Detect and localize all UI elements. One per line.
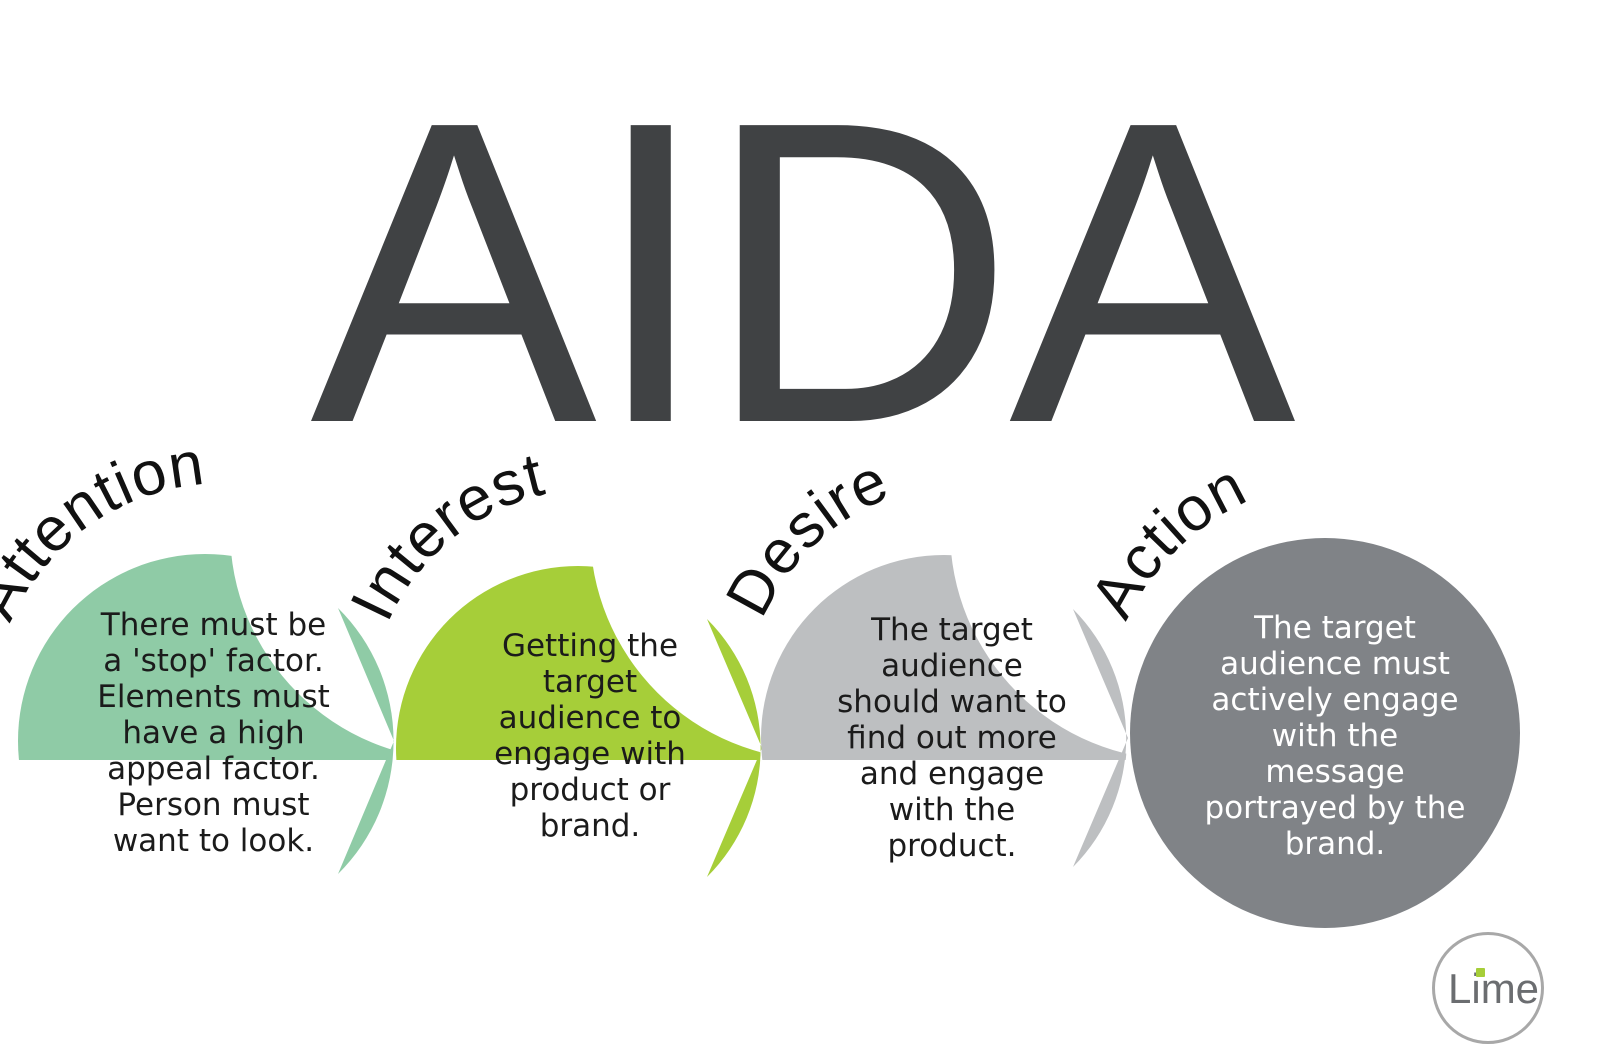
step-label-desire: Desire xyxy=(713,446,898,627)
infographic-canvas: AIDA xyxy=(0,0,1600,1053)
logo-accent-dot-icon xyxy=(1476,968,1485,977)
logo-wordmark: Lime xyxy=(1448,968,1539,1010)
step-label-desire-text: Desire xyxy=(713,446,898,627)
step-body-action: The target audience must actively engage… xyxy=(1175,610,1495,862)
step-body-desire: The target audience should want to find … xyxy=(816,612,1088,864)
step-label-attention: Attention xyxy=(0,429,209,630)
aida-funnel-stage: Attention Interest Desire Action xyxy=(0,0,1600,1053)
step-body-interest: Getting the target audience to engage wi… xyxy=(455,628,725,844)
step-body-attention: There must be a 'stop' factor. Elements … xyxy=(66,607,361,859)
step-label-action: Action xyxy=(1078,451,1257,629)
step-label-interest-text: Interest xyxy=(338,440,551,630)
step-label-attention-text: Attention xyxy=(0,429,209,630)
step-label-action-text: Action xyxy=(1078,451,1257,629)
lime-logo[interactable]: Lime xyxy=(1432,932,1560,1053)
step-label-interest: Interest xyxy=(338,440,551,630)
